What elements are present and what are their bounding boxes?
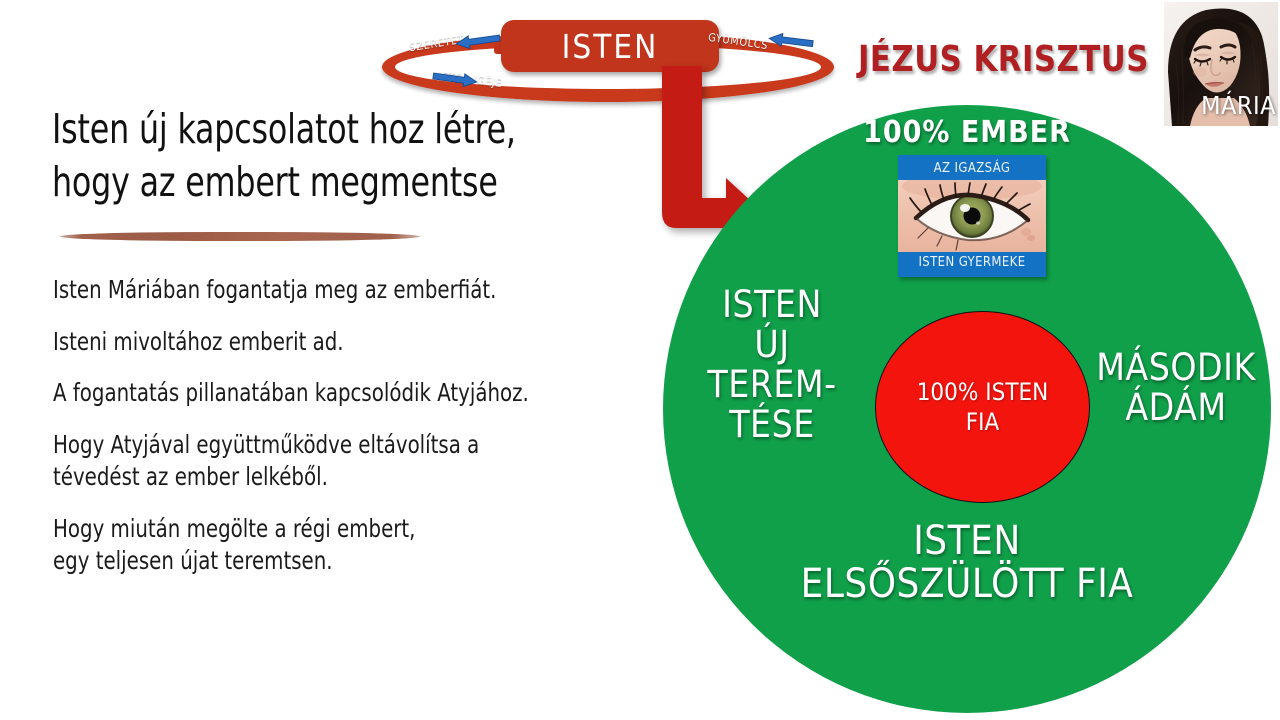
body-paragraph: Isten Máriában fogantatja meg az emberfi… bbox=[53, 274, 599, 307]
body-paragraph: Hogy Atyjával együttműködve eltávolítsa … bbox=[53, 429, 599, 494]
red-circle-label: 100% ISTEN FIA bbox=[917, 377, 1049, 437]
eye-photo bbox=[898, 180, 1046, 252]
maria-photo: MÁRIA bbox=[1164, 2, 1278, 126]
body-paragraph: A fogantatás pillanatában kapcsolódik At… bbox=[53, 377, 599, 410]
maria-label: MÁRIA bbox=[1201, 91, 1276, 120]
body-paragraph: Isteni mivoltához emberit ad. bbox=[53, 326, 599, 359]
eye-card: AZ IGAZSÁG bbox=[898, 155, 1046, 277]
label-isten-elsoszulott-fia: ISTEN ELSŐSZÜLÖTT FIA bbox=[717, 520, 1217, 606]
green-circle: 100% EMBER AZ IGAZSÁG bbox=[663, 105, 1271, 713]
cycle-diagram: ISTEN SZERETET GYÜMÖLCS ISTEN IGÉJE bbox=[376, 8, 846, 112]
label-isten-uj-teremtese: ISTEN ÚJ TEREM- TÉSE bbox=[687, 285, 857, 445]
eye-card-caption-top: AZ IGAZSÁG bbox=[898, 158, 1046, 180]
red-circle: 100% ISTEN FIA bbox=[875, 311, 1090, 503]
body-text-list: Isten Máriában fogantatja meg az emberfi… bbox=[53, 274, 673, 597]
isten-box: ISTEN bbox=[501, 20, 719, 72]
isten-box-label: ISTEN bbox=[562, 27, 659, 66]
label-masodik-adam: MÁSODIK ÁDÁM bbox=[1081, 348, 1271, 428]
body-paragraph: Hogy miután megölte a régi embert, egy t… bbox=[53, 513, 599, 578]
eye-card-caption-bottom: ISTEN GYERMEKE bbox=[898, 252, 1046, 274]
heading-jezus-krisztus: JÉZUS KRISZTUS bbox=[858, 39, 1149, 80]
title-underline-stroke bbox=[60, 232, 420, 241]
page-title: Isten új kapcsolatot hoz létre, hogy az … bbox=[52, 103, 585, 210]
